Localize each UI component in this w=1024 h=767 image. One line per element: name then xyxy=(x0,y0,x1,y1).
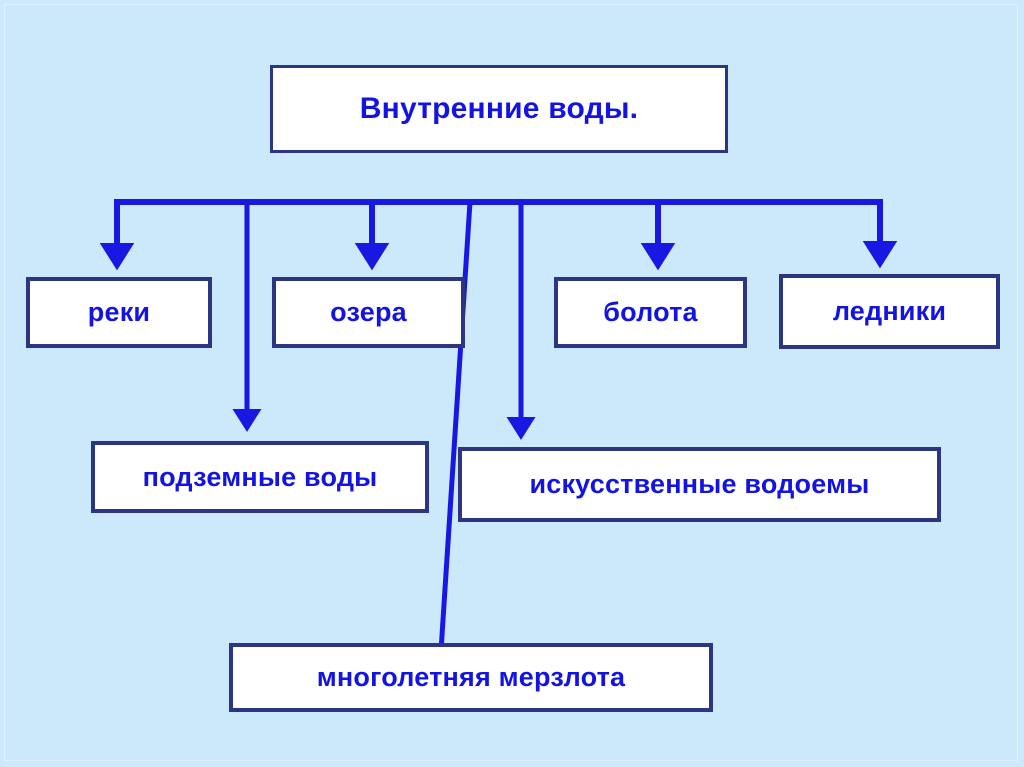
node-label: болота xyxy=(603,299,698,326)
node-artificial-reservoirs[interactable]: искусственные водоемы xyxy=(458,447,941,522)
connector-to-permafrost xyxy=(441,202,470,651)
node-label: искусственные водоемы xyxy=(529,471,869,498)
node-label: озера xyxy=(330,299,407,326)
node-groundwater[interactable]: подземные воды xyxy=(91,441,429,513)
node-glaciers[interactable]: ледники xyxy=(779,274,1000,349)
node-label: ледники xyxy=(833,298,946,325)
node-swamps[interactable]: болота xyxy=(554,277,747,348)
node-permafrost[interactable]: многолетняя мерзлота xyxy=(229,643,713,712)
node-internal-waters-title[interactable]: Внутренние воды. xyxy=(270,65,728,153)
node-label: Внутренние воды. xyxy=(360,94,638,124)
node-label: реки xyxy=(88,299,150,326)
node-label: многолетняя мерзлота xyxy=(317,664,626,691)
node-label: подземные воды xyxy=(143,464,378,491)
node-lakes[interactable]: озера xyxy=(272,277,465,348)
slide-canvas: Внутренние воды. реки озера болота ледни… xyxy=(0,0,1024,767)
node-rivers[interactable]: реки xyxy=(26,277,212,348)
